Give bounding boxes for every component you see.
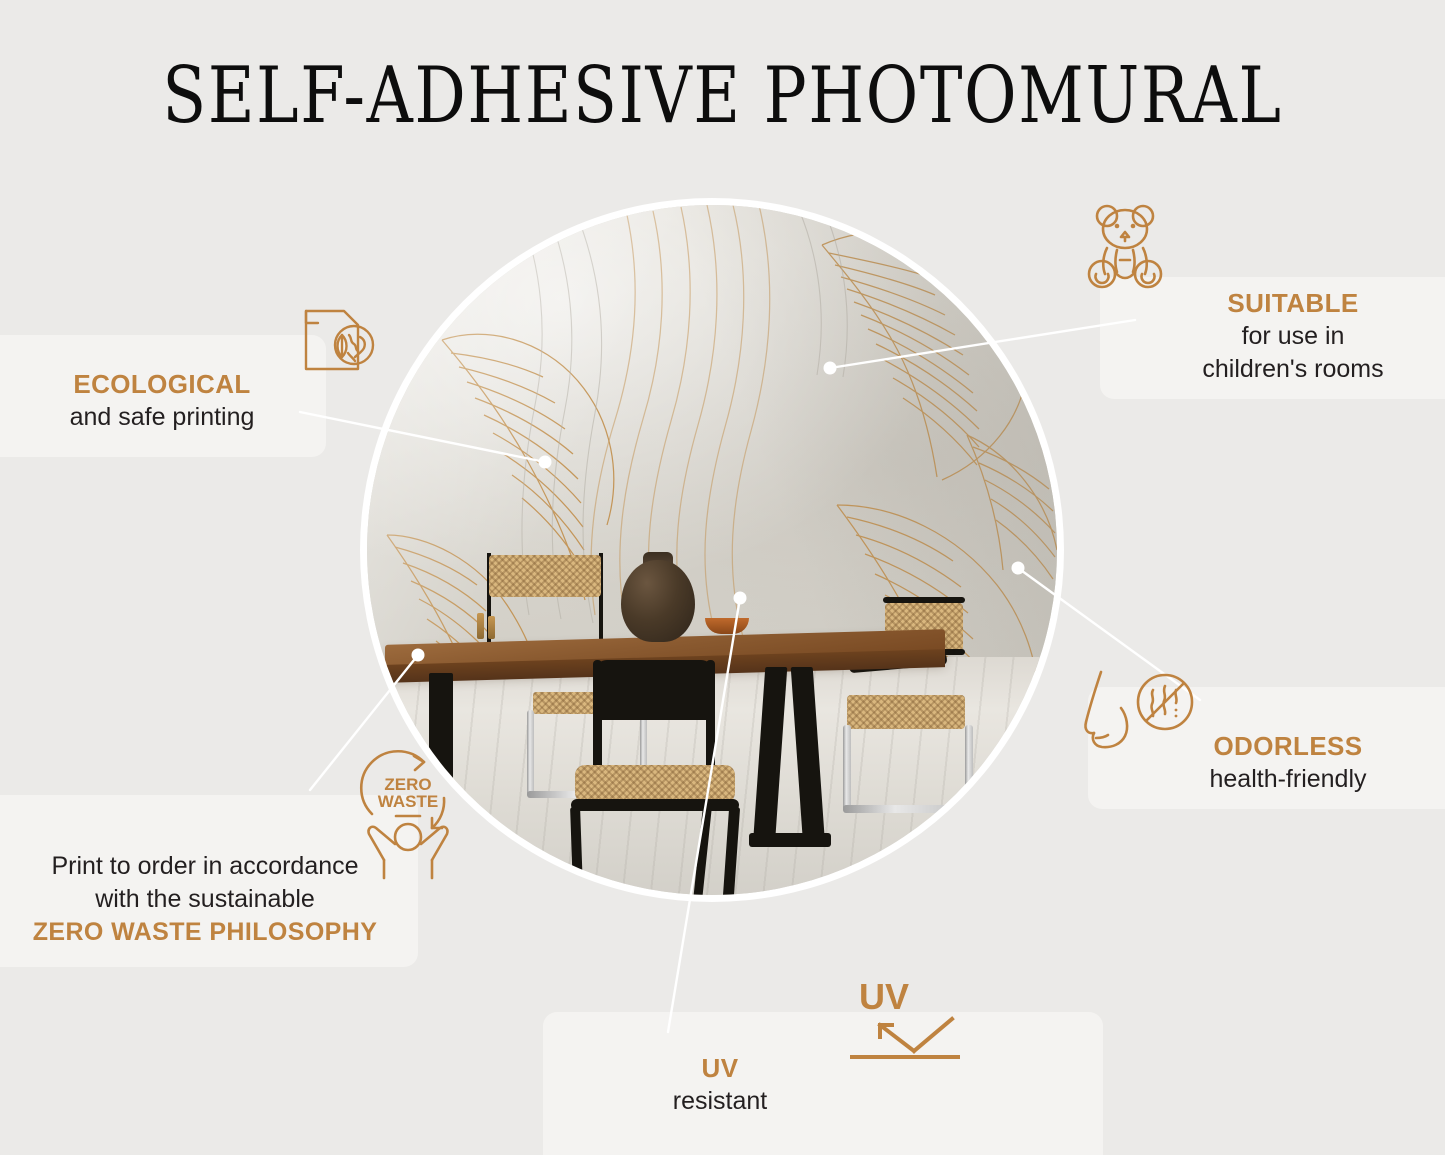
candle-holders: [477, 613, 497, 639]
infographic-canvas: SELF-ADHESIVE PHOTOMURAL: [0, 0, 1445, 1155]
bear-ear-left: [1097, 206, 1117, 226]
bear-pad-right: [1142, 274, 1155, 283]
feature-text-uv: UV resistant: [570, 1052, 870, 1118]
zero-waste-label-line2: WASTE: [378, 792, 438, 811]
bear-eye-left: [1115, 224, 1120, 229]
chair-front-backrest: [595, 660, 713, 720]
document-fold: [306, 311, 318, 323]
table-leg-right-foot: [749, 833, 831, 847]
uv-icon-label: UV: [859, 976, 909, 1017]
chair-far-left-back: [489, 555, 601, 597]
zero-waste-arm-right: [421, 827, 447, 860]
photomural-room-photo: [367, 205, 1057, 895]
odorless-body: health-friendly: [1209, 765, 1366, 793]
chair-right-cantilever-rear: [965, 725, 973, 811]
nose-bridge: [1085, 672, 1101, 733]
feature-text-odorless: ODORLESS health-friendly: [1118, 730, 1445, 796]
uv-reflected-ray: [880, 1025, 914, 1051]
bear-bottom: [1115, 272, 1135, 278]
nostril: [1096, 735, 1108, 738]
bear-pad-left: [1096, 274, 1109, 283]
ceramic-vase: [621, 560, 695, 642]
globe-land-1: [349, 335, 358, 351]
feature-text-zero-waste: Print to order in accordance with the su…: [10, 850, 400, 949]
odorless-headline: ODORLESS: [1118, 730, 1445, 763]
ecological-body: and safe printing: [70, 403, 255, 431]
bear-ear-right: [1133, 206, 1153, 226]
chair-right-cantilever-front: [843, 725, 851, 811]
chair-front-back-post-left: [593, 660, 602, 780]
odor-wave-1: [1151, 690, 1153, 716]
chair-front-seat: [575, 765, 735, 803]
zero-waste-body-line2: with the sustainable: [10, 883, 400, 916]
chair-right-cantilever-base: [843, 805, 973, 813]
feature-text-suitable: SUITABLE for use in children's rooms: [1128, 287, 1445, 386]
odor-wave-2: [1163, 686, 1165, 714]
bear-eye-right: [1131, 224, 1136, 229]
suitable-body-line2: children's rooms: [1128, 353, 1445, 386]
chair-front-seat-frame: [571, 799, 739, 811]
uv-body: resistant: [673, 1087, 767, 1115]
chair-right-seat: [847, 695, 965, 729]
chair-left-cantilever-front: [527, 710, 534, 796]
odor-wave-3: [1175, 690, 1176, 703]
odor-dot-1: [1175, 709, 1178, 712]
teddy-bear-icon: [1085, 202, 1167, 290]
uv-incoming-ray: [914, 1019, 952, 1051]
suitable-body-line1: for use in: [1128, 320, 1445, 353]
ecological-headline: ECOLOGICAL: [12, 368, 312, 401]
feature-text-ecological: ECOLOGICAL and safe printing: [12, 368, 312, 434]
recycle-arrow-head-top: [414, 756, 424, 770]
bear-belly-right: [1133, 250, 1135, 272]
zero-waste-head: [395, 824, 421, 850]
uv-headline: UV: [570, 1052, 870, 1085]
chair-front-back-post-right: [706, 660, 715, 780]
zero-waste-headline: ZERO WASTE PHILOSOPHY: [10, 916, 400, 949]
bear-belly-left: [1116, 250, 1118, 272]
zero-waste-body-line1: Print to order in accordance: [10, 850, 400, 883]
odor-dot-2: [1175, 715, 1178, 718]
suitable-headline: SUITABLE: [1128, 287, 1445, 320]
page-title: SELF-ADHESIVE PHOTOMURAL: [130, 48, 1315, 144]
bear-head: [1103, 210, 1147, 248]
